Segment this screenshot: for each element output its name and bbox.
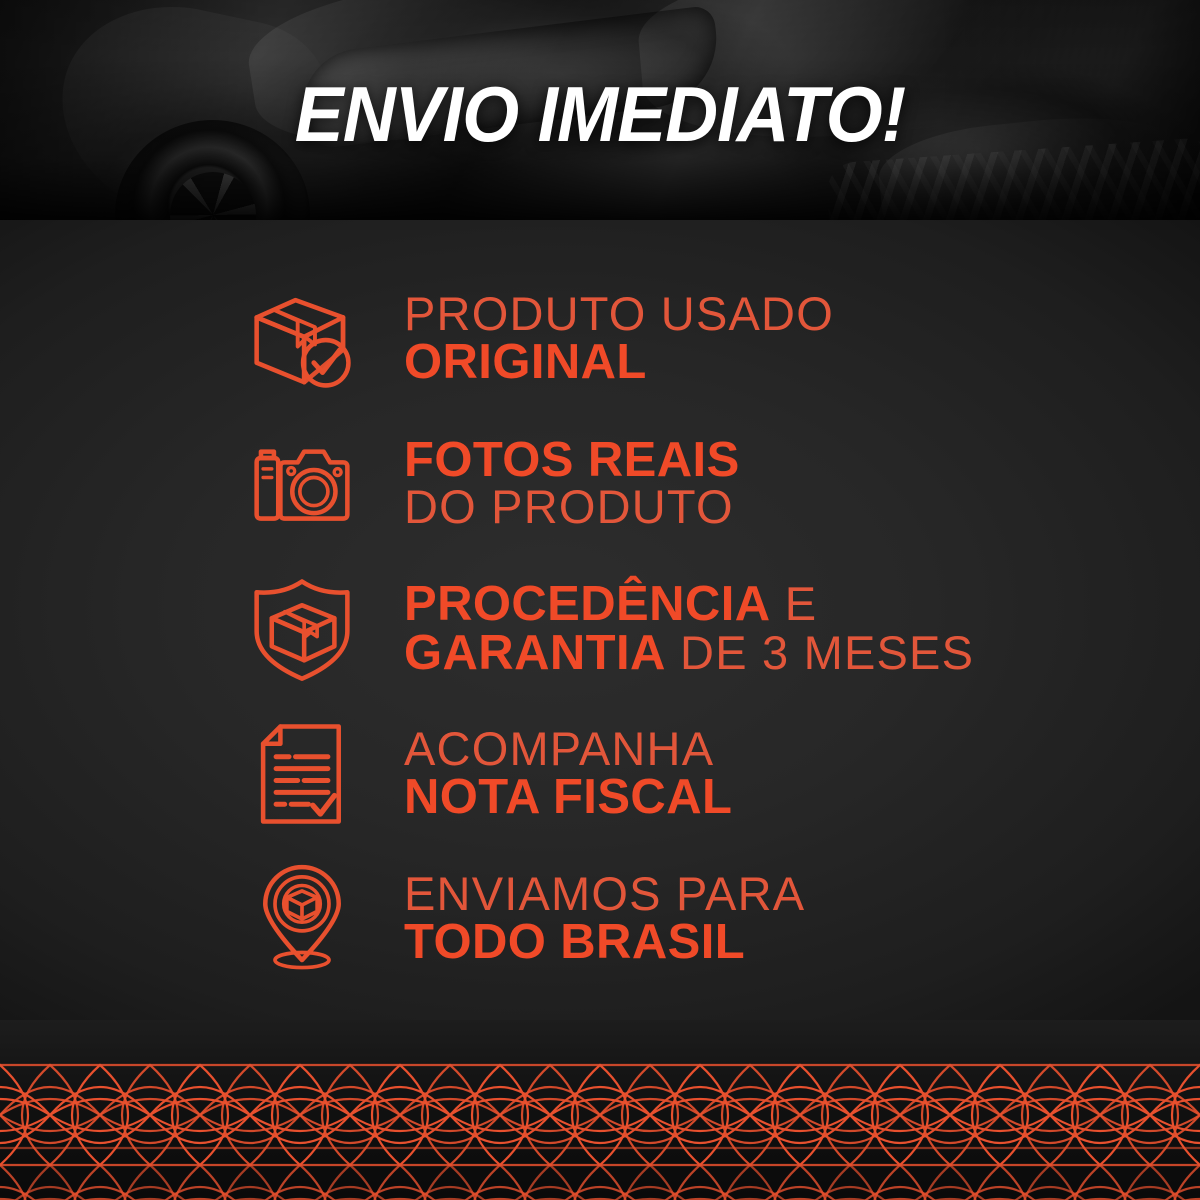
list-item: FOTOS REAIS DO PRODUTO [0, 411, 1200, 556]
feature-list: PRODUTO USADO ORIGINAL FOTOS REAIS [0, 220, 1200, 1060]
header-hero: ENVIO IMEDIATO! [0, 0, 1200, 220]
feature-line-1-bold: PROCEDÊNCIA [404, 577, 771, 631]
feature-text: PROCEDÊNCIA E GARANTIA DE 3 MESES [404, 580, 974, 677]
feature-line-2: TODO BRASIL [404, 918, 805, 967]
box-check-icon [248, 283, 356, 395]
list-item: PROCEDÊNCIA E GARANTIA DE 3 MESES [0, 556, 1200, 701]
feature-line-1: PROCEDÊNCIA E [404, 580, 974, 629]
shield-box-icon [248, 573, 356, 685]
feature-text: ENVIAMOS PARA TODO BRASIL [404, 871, 805, 966]
feature-text: PRODUTO USADO ORIGINAL [404, 291, 834, 386]
list-item: ACOMPANHA NOTA FISCAL [0, 701, 1200, 846]
page-title: ENVIO IMEDIATO! [36, 0, 1164, 220]
promotional-banner: ENVIO IMEDIATO! PRODUTO USADO ORIGINAL [0, 0, 1200, 1200]
feature-line-1: FOTOS REAIS [404, 436, 740, 485]
feature-text: ACOMPANHA NOTA FISCAL [404, 726, 732, 821]
feature-line-1: PRODUTO USADO [404, 291, 834, 338]
list-item: ENVIAMOS PARA TODO BRASIL [0, 846, 1200, 991]
decorative-footer-pattern [0, 1020, 1200, 1200]
feature-line-1: ACOMPANHA [404, 726, 732, 773]
feature-line-1: ENVIAMOS PARA [404, 871, 805, 918]
feature-line-2-light: DE 3 MESES [666, 626, 974, 679]
list-item: PRODUTO USADO ORIGINAL [0, 266, 1200, 411]
feature-line-2: NOTA FISCAL [404, 773, 732, 822]
feature-text: FOTOS REAIS DO PRODUTO [404, 436, 740, 531]
feature-line-2: GARANTIA DE 3 MESES [404, 629, 974, 678]
feature-line-2-bold: GARANTIA [404, 626, 666, 680]
feature-line-2: DO PRODUTO [404, 484, 740, 531]
camera-icon [248, 428, 356, 540]
invoice-document-icon [248, 718, 356, 830]
feature-line-2: ORIGINAL [404, 338, 834, 387]
location-pin-box-icon [248, 863, 356, 975]
feature-line-1-light: E [771, 577, 818, 630]
